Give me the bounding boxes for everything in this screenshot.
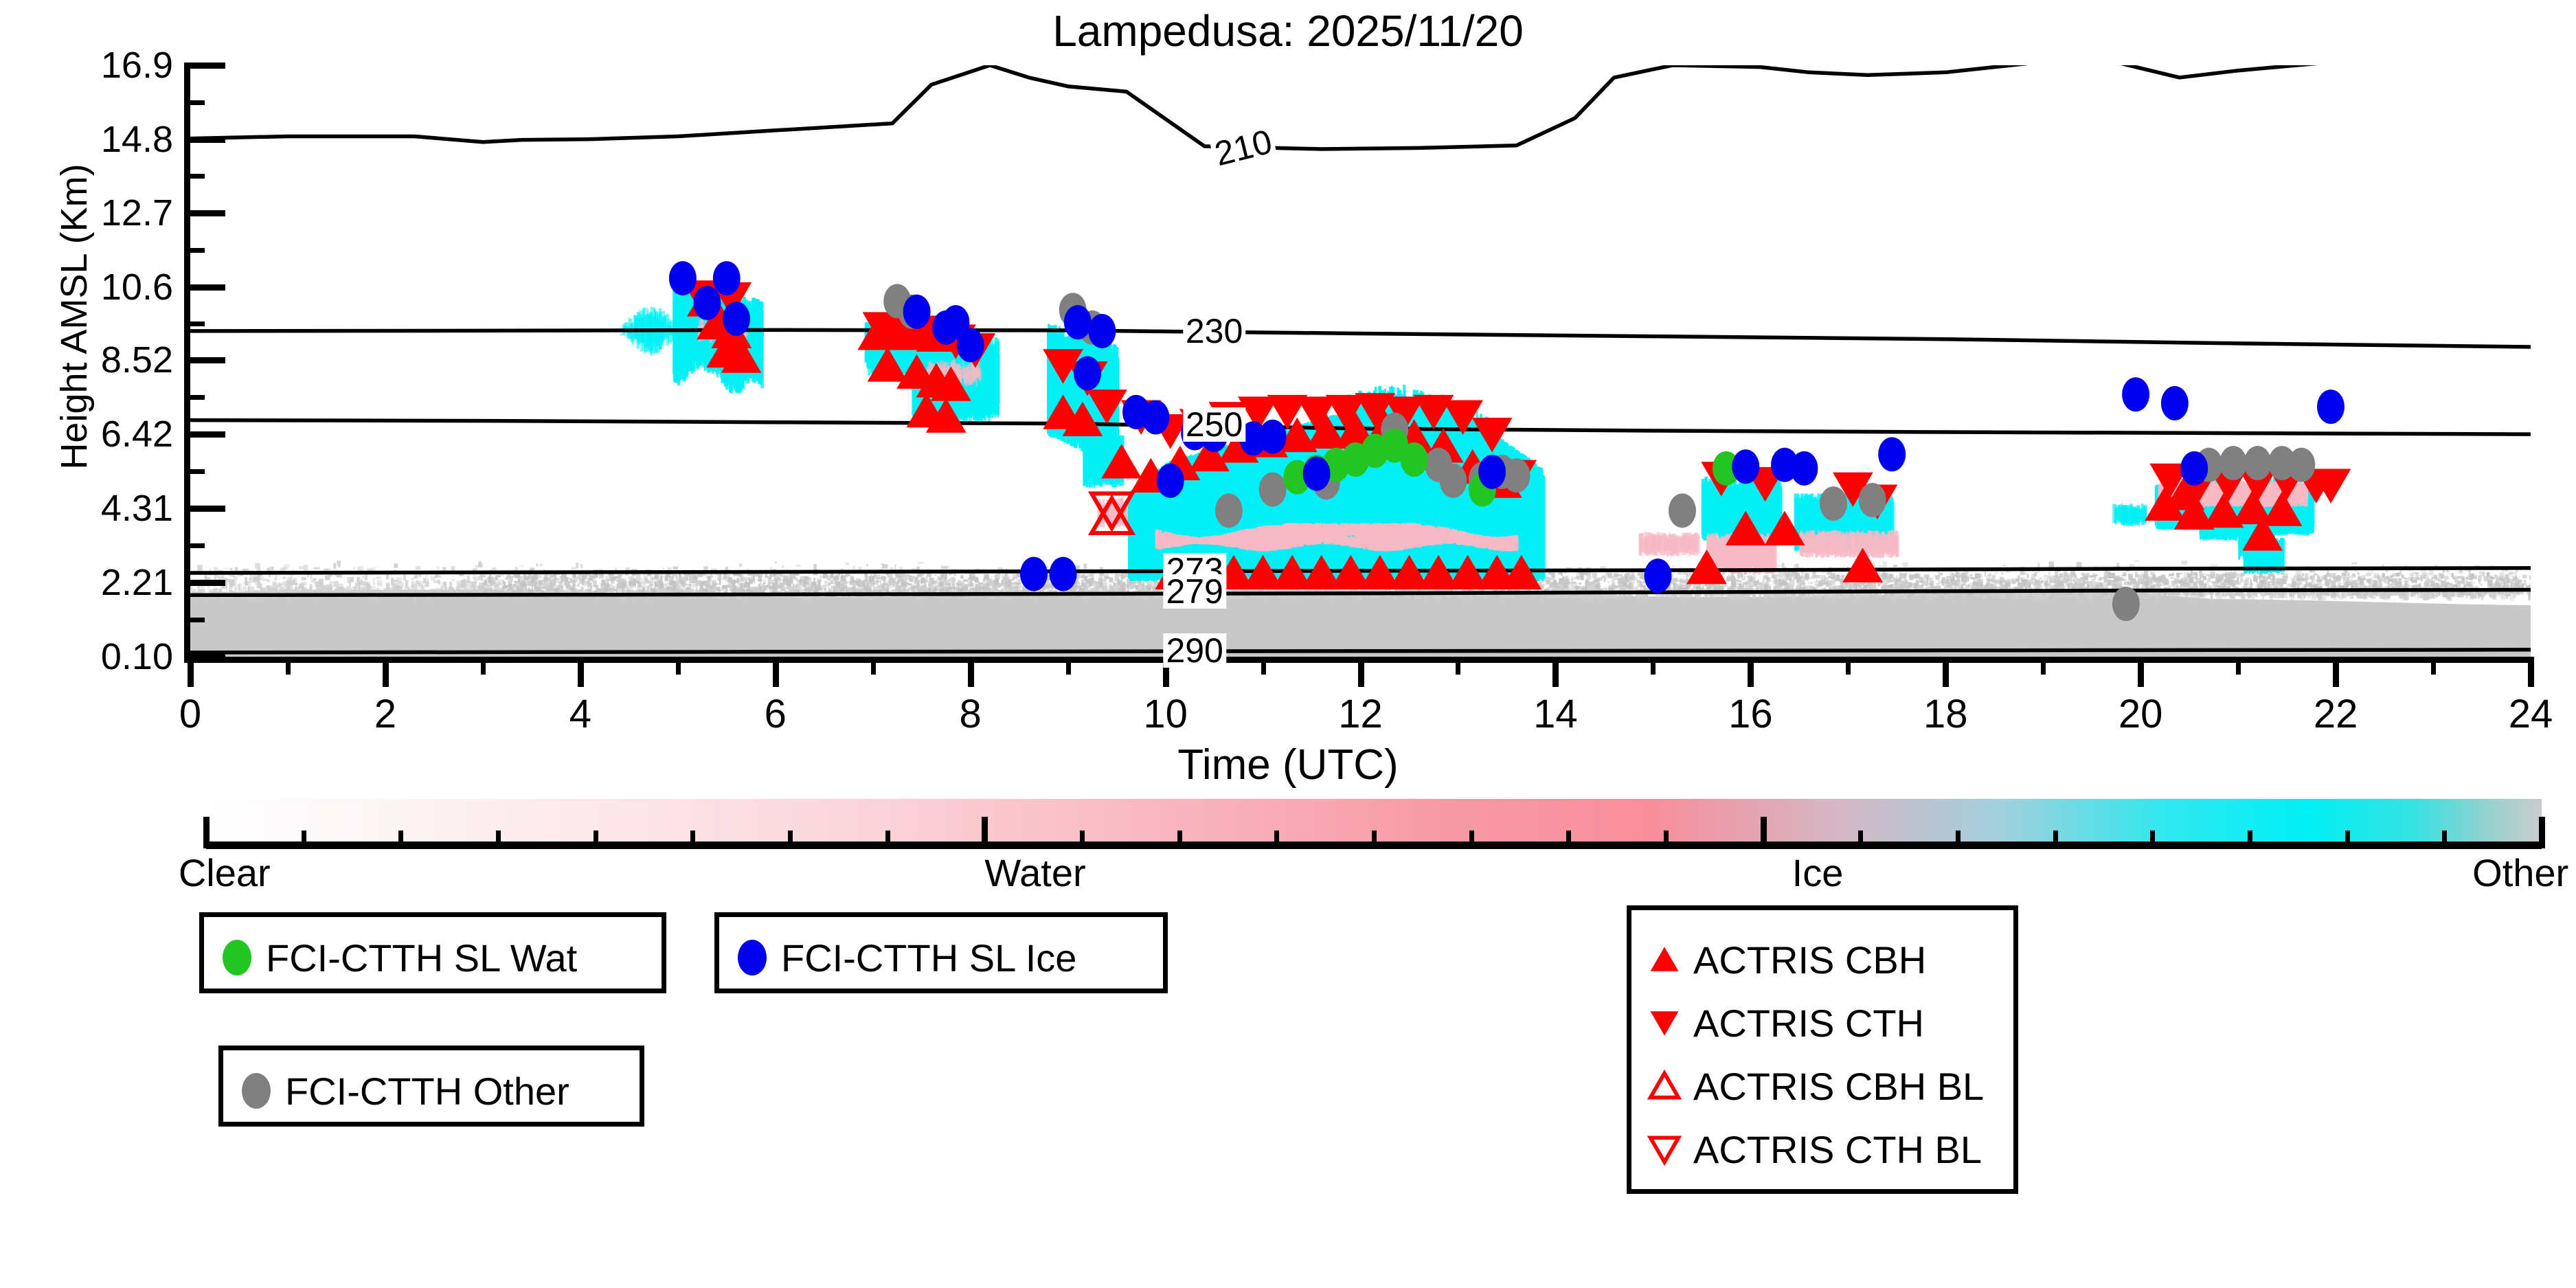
y-minor-tick	[184, 321, 205, 326]
x-tick-label: 0	[179, 691, 201, 737]
triangle-down-icon	[1647, 1005, 1682, 1041]
x-tick-mark	[1358, 657, 1364, 687]
y-tick-label: 16.9	[101, 44, 173, 87]
y-minor-tick	[184, 248, 205, 253]
x-tick-label: 4	[569, 691, 591, 737]
y-tick-label: 10.6	[101, 266, 173, 308]
legend-item-label: ACTRIS CTH	[1693, 1001, 1924, 1046]
colorbar-tick	[2248, 831, 2252, 848]
y-tick-label: 14.8	[101, 118, 173, 161]
legend-triangle-down-marker-icon	[1647, 1005, 1682, 1041]
y-tick-label: 6.42	[101, 413, 173, 455]
x-minor-tick	[2236, 657, 2241, 675]
colorbar-tick	[1956, 831, 1961, 848]
x-tick-mark	[2138, 657, 2144, 687]
colorbar-tick	[982, 817, 988, 848]
x-tick-label: 16	[1728, 691, 1773, 737]
colorbar-tick	[1080, 831, 1085, 848]
legend-triangle-up-open-marker-icon	[1647, 1068, 1682, 1104]
y-tick-label: 4.31	[101, 487, 173, 530]
colorbar-tick	[885, 831, 890, 848]
legend-item[interactable]: ACTRIS CTH BL	[1631, 1118, 2013, 1181]
x-minor-tick	[481, 657, 486, 675]
colorbar-label-clear: Clear	[179, 850, 271, 895]
chart-page: Lampedusa: 2025/11/20 Height AMSL (Km) 1…	[0, 0, 2576, 1288]
legend-item-label: FCI-CTTH SL Wat	[266, 936, 577, 980]
legend-circle-marker-icon	[238, 1073, 274, 1109]
colorbar-tick	[1469, 831, 1474, 848]
colorbar-tick	[2053, 831, 2058, 848]
x-tick-mark	[968, 657, 974, 687]
legend-item-label: ACTRIS CBH	[1693, 938, 1926, 982]
x-tick-mark	[1552, 657, 1559, 687]
colorbar-tick	[203, 817, 210, 848]
triangle-up-icon	[1647, 942, 1682, 978]
legend-item[interactable]: FCI-CTTH SL Ice	[719, 926, 1163, 989]
colorbar-tick	[1761, 817, 1767, 848]
y-minor-tick	[184, 174, 205, 179]
circle-icon	[242, 1073, 271, 1109]
x-minor-tick	[1066, 657, 1071, 675]
x-minor-tick	[2041, 657, 2046, 675]
legend-fci-ctth-other[interactable]: FCI-CTTH Other	[218, 1046, 644, 1127]
y-tick-label: 8.52	[101, 339, 173, 381]
colorbar-tick	[1372, 831, 1377, 848]
legend-item[interactable]: ACTRIS CTH	[1631, 991, 2013, 1054]
colorbar-tick	[398, 831, 403, 848]
colorbar-tick	[788, 831, 793, 848]
x-tick-mark	[773, 657, 779, 687]
colorbar-tick	[594, 831, 598, 848]
colorbar-label-ice: Ice	[1792, 850, 1844, 895]
y-minor-tick	[184, 469, 205, 474]
page-title: Lampedusa: 2025/11/20	[0, 5, 2576, 56]
colorbar-tick	[2345, 831, 2350, 848]
x-tick-mark	[1748, 657, 1754, 687]
triangle-down-icon	[1647, 1131, 1682, 1167]
legend-circle-marker-icon	[734, 940, 770, 975]
x-tick-label: 24	[2509, 691, 2553, 737]
y-tick-mark	[184, 284, 225, 291]
contour-label-250: 250	[1183, 407, 1245, 442]
legend-triangle-up-marker-icon	[1647, 942, 1682, 978]
colorbar-tick	[1664, 831, 1669, 848]
x-minor-tick	[2431, 657, 2436, 675]
triangle-up-icon	[1647, 1068, 1682, 1104]
legend-item-label: ACTRIS CBH BL	[1693, 1064, 1984, 1109]
legend-fci-ctth-sl-wat[interactable]: FCI-CTTH SL Wat	[199, 912, 666, 993]
colorbar-tick	[1177, 831, 1182, 848]
legend-actris[interactable]: ACTRIS CBHACTRIS CTHACTRIS CBH BLACTRIS …	[1627, 905, 2018, 1194]
x-tick-label: 10	[1143, 691, 1188, 737]
colorbar-label-water: Water	[984, 850, 1085, 895]
x-tick-label: 20	[2119, 691, 2163, 737]
legend-circle-marker-icon	[219, 940, 255, 975]
x-tick-label: 2	[374, 691, 396, 737]
colorbar-tick	[302, 831, 306, 848]
legend-item[interactable]: ACTRIS CBH BL	[1631, 1054, 2013, 1118]
y-minor-tick	[184, 100, 205, 105]
x-tick-label: 18	[1923, 691, 1968, 737]
x-minor-tick	[1261, 657, 1266, 675]
y-tick-mark	[184, 357, 225, 363]
contour-label-230: 230	[1183, 314, 1245, 348]
y-minor-tick	[184, 395, 205, 400]
colorbar-tick	[1566, 831, 1571, 848]
colorbar-tick	[2539, 817, 2545, 848]
legend-item-label: FCI-CTTH SL Ice	[781, 936, 1076, 980]
y-minor-tick	[184, 618, 205, 622]
x-tick-mark	[1943, 657, 1949, 687]
x-tick-label: 12	[1338, 691, 1383, 737]
legend-item-label: ACTRIS CTH BL	[1693, 1127, 1982, 1172]
x-minor-tick	[1456, 657, 1460, 675]
y-tick-mark	[184, 210, 225, 216]
legend-item[interactable]: ACTRIS CBH	[1631, 928, 2013, 991]
plot-clip	[190, 65, 2531, 657]
plot-area	[184, 65, 2531, 663]
x-tick-mark	[2333, 657, 2339, 687]
contour-label-279: 279	[1163, 574, 1225, 609]
y-axis-title: Height AMSL (Km)	[53, 97, 95, 536]
y-tick-mark	[184, 580, 225, 586]
x-minor-tick	[1651, 657, 1656, 675]
x-tick-mark	[188, 657, 194, 687]
legend-item[interactable]: FCI-CTTH SL Wat	[204, 926, 662, 989]
x-axis-title: Time (UTC)	[0, 741, 2576, 789]
y-minor-tick	[184, 543, 205, 548]
x-minor-tick	[676, 657, 681, 675]
x-tick-label: 6	[765, 691, 787, 737]
plot-canvas	[190, 65, 2531, 657]
x-minor-tick	[1846, 657, 1851, 675]
x-tick-mark	[383, 657, 389, 687]
y-tick-mark	[184, 137, 225, 143]
x-minor-tick	[871, 657, 876, 675]
legend-item[interactable]: FCI-CTTH Other	[223, 1059, 640, 1122]
legend-fci-ctth-sl-ice[interactable]: FCI-CTTH SL Ice	[714, 912, 1168, 993]
contour-label-290: 290	[1163, 633, 1225, 668]
y-tick-mark	[184, 506, 225, 512]
x-tick-label: 14	[1533, 691, 1578, 737]
x-tick-label: 8	[960, 691, 982, 737]
x-tick-label: 22	[2314, 691, 2358, 737]
colorbar-tick	[496, 831, 501, 848]
colorbar-tick	[1858, 831, 1863, 848]
y-tick-label: 2.21	[101, 561, 173, 604]
colorbar-tick	[2442, 831, 2447, 848]
y-tick-label: 0.10	[101, 635, 173, 678]
colorbar-label-other: Other	[2472, 850, 2568, 895]
y-tick-mark	[184, 431, 225, 438]
x-minor-tick	[286, 657, 291, 675]
legend-triangle-down-open-marker-icon	[1647, 1131, 1682, 1167]
colorbar-tick	[690, 831, 695, 848]
colorbar-tick	[1274, 831, 1279, 848]
x-tick-mark	[2528, 657, 2534, 687]
legend-item-label: FCI-CTTH Other	[285, 1069, 569, 1114]
y-tick-label: 12.7	[101, 192, 173, 234]
y-tick-mark	[184, 63, 225, 69]
circle-icon	[223, 940, 251, 975]
colorbar-tick	[2150, 831, 2155, 848]
circle-icon	[738, 940, 767, 975]
x-tick-mark	[578, 657, 584, 687]
